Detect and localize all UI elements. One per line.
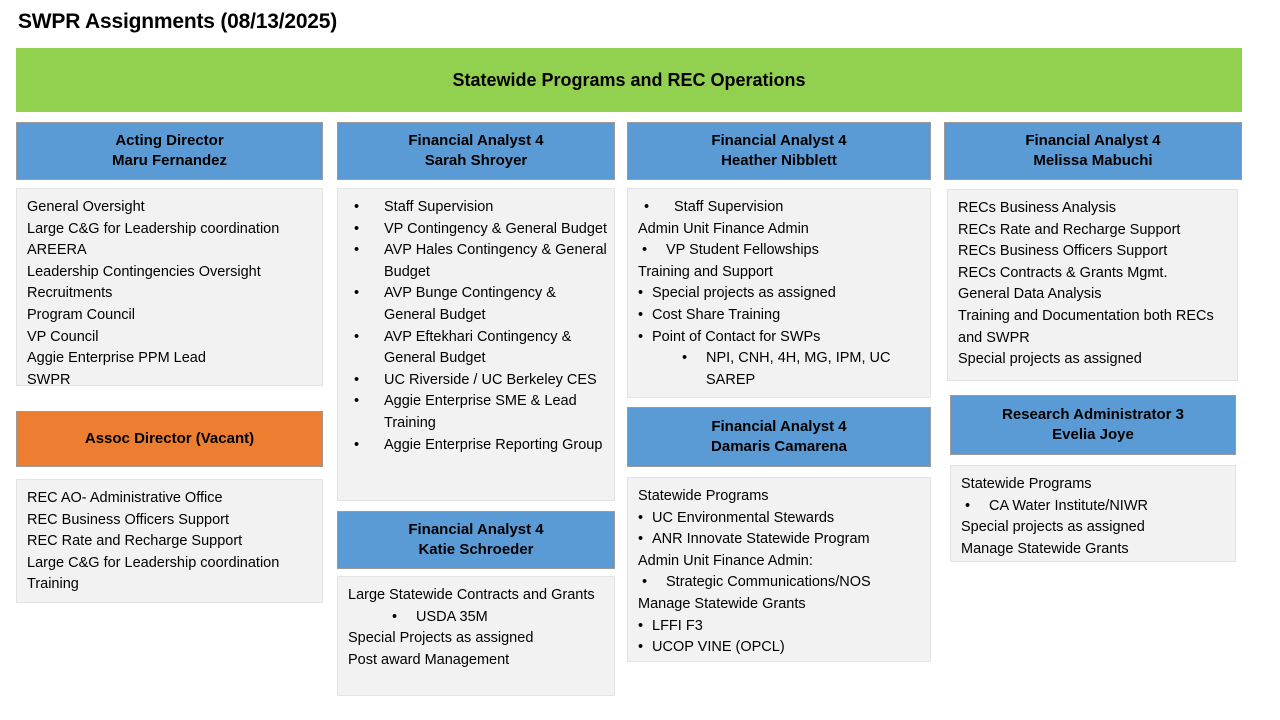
list-item: REC Business Officers Support: [27, 510, 316, 532]
list-item: RECs Rate and Recharge Support: [958, 220, 1231, 242]
role-title: Research Administrator 3: [1002, 405, 1184, 425]
list-item: UCOP VINE (OPCL): [638, 637, 924, 659]
list-item: SWPR: [27, 370, 316, 392]
role-person-name: Sarah Shroyer: [425, 151, 528, 171]
list-item: AREERA: [27, 240, 316, 262]
list-item: Aggie Enterprise PPM Lead: [27, 348, 316, 370]
org-column-3: Financial Analyst 4 Heather Nibblett Sta…: [627, 0, 931, 720]
role-title: Financial Analyst 4: [408, 131, 543, 151]
list-item: General Data Analysis: [958, 284, 1231, 306]
detail-card-assoc-director-vacant: REC AO- Administrative Office REC Busine…: [16, 479, 323, 603]
role-card-damaris-camarena[interactable]: Financial Analyst 4 Damaris Camarena: [627, 407, 931, 467]
detail-list: Large Statewide Contracts and Grants USD…: [348, 585, 608, 671]
list-item: NPI, CNH, 4H, MG, IPM, UC SAREP: [638, 348, 924, 391]
list-item: Admin Unit Finance Admin:: [638, 551, 924, 573]
role-card-maru-fernandez[interactable]: Acting Director Maru Fernandez: [16, 122, 323, 180]
org-column-2: Financial Analyst 4 Sarah Shroyer Staff …: [337, 0, 615, 720]
role-title: Financial Analyst 4: [711, 131, 846, 151]
list-item: Recruitments: [27, 283, 316, 305]
list-item: Post award Management: [348, 650, 608, 672]
list-item: Aggie Enterprise SME & Lead Training: [348, 391, 608, 434]
list-item: Point of Contact for SWPs: [638, 327, 924, 349]
role-card-assoc-director-vacant[interactable]: Assoc Director (Vacant): [16, 411, 323, 467]
role-person-name: Damaris Camarena: [711, 437, 847, 457]
list-item: AVP Eftekhari Contingency & General Budg…: [348, 327, 608, 370]
role-card-katie-schroeder[interactable]: Financial Analyst 4 Katie Schroeder: [337, 511, 615, 569]
list-item: General Oversight: [27, 197, 316, 219]
detail-list: RECs Business Analysis RECs Rate and Rec…: [958, 198, 1231, 371]
list-item: UC Riverside / UC Berkeley CES: [348, 370, 608, 392]
list-item: Aggie Enterprise Reporting Group: [348, 435, 608, 457]
list-item: Training and Documentation both RECs and…: [958, 306, 1231, 349]
detail-list: General Oversight Large C&G for Leadersh…: [27, 197, 316, 391]
detail-card-katie-schroeder: Large Statewide Contracts and Grants USD…: [337, 576, 615, 696]
list-item: Manage Statewide Grants: [961, 539, 1229, 561]
list-item: Large Statewide Contracts and Grants: [348, 585, 608, 607]
list-item: Staff Supervision: [348, 197, 608, 219]
role-person-name: Maru Fernandez: [112, 151, 227, 171]
list-item: Special projects as assigned: [961, 517, 1229, 539]
role-title: Financial Analyst 4: [408, 520, 543, 540]
role-title: Financial Analyst 4: [1025, 131, 1160, 151]
role-card-sarah-shroyer[interactable]: Financial Analyst 4 Sarah Shroyer: [337, 122, 615, 180]
role-person-name: Evelia Joye: [1052, 425, 1134, 445]
list-item: Special projects as assigned: [958, 349, 1231, 371]
org-column-4: Financial Analyst 4 Melissa Mabuchi RECs…: [944, 0, 1242, 720]
detail-list: Statewide Programs CA Water Institute/NI…: [961, 474, 1229, 560]
detail-list: Statewide Programs UC Environmental Stew…: [638, 486, 924, 659]
list-item: Staff Supervision: [638, 197, 924, 219]
role-card-melissa-mabuchi[interactable]: Financial Analyst 4 Melissa Mabuchi: [944, 122, 1242, 180]
list-item: RECs Contracts & Grants Mgmt.: [958, 263, 1231, 285]
list-item: REC AO- Administrative Office: [27, 488, 316, 510]
list-item: ANR Innovate Statewide Program: [638, 529, 924, 551]
list-item: Manage Statewide Grants: [638, 594, 924, 616]
role-card-evelia-joye[interactable]: Research Administrator 3 Evelia Joye: [950, 395, 1236, 455]
detail-card-melissa-mabuchi: RECs Business Analysis RECs Rate and Rec…: [947, 189, 1238, 381]
org-column-1: Acting Director Maru Fernandez General O…: [16, 0, 323, 720]
list-item: Training: [27, 574, 316, 596]
role-person-name: Melissa Mabuchi: [1033, 151, 1152, 171]
role-card-heather-nibblett[interactable]: Financial Analyst 4 Heather Nibblett: [627, 122, 931, 180]
list-item: Large C&G for Leadership coordination: [27, 219, 316, 241]
list-item: AVP Bunge Contingency & General Budget: [348, 283, 608, 326]
role-person-name: Heather Nibblett: [721, 151, 837, 171]
list-item: Large C&G for Leadership coordination: [27, 553, 316, 575]
list-item: Leadership Contingencies Oversight: [27, 262, 316, 284]
list-item: VP Student Fellowships: [638, 240, 924, 262]
list-item: Admin Unit Finance Admin: [638, 219, 924, 241]
list-item: Cost Share Training: [638, 305, 924, 327]
list-item: REC Rate and Recharge Support: [27, 531, 316, 553]
list-item: Statewide Programs: [961, 474, 1229, 496]
list-item: VP Council: [27, 327, 316, 349]
list-item: Special projects as assigned: [638, 283, 924, 305]
detail-card-heather-nibblett: Staff Supervision Admin Unit Finance Adm…: [627, 188, 931, 398]
role-title: Financial Analyst 4: [711, 417, 846, 437]
detail-list: REC AO- Administrative Office REC Busine…: [27, 488, 316, 596]
list-item: UC Environmental Stewards: [638, 508, 924, 530]
list-item: CA Water Institute/NIWR: [961, 496, 1229, 518]
list-item: RECs Business Officers Support: [958, 241, 1231, 263]
list-item: USDA 35M: [348, 607, 608, 629]
list-item: Special Projects as assigned: [348, 628, 608, 650]
org-chart-canvas: SWPR Assignments (08/13/2025) Statewide …: [0, 0, 1280, 720]
detail-card-maru-fernandez: General Oversight Large C&G for Leadersh…: [16, 188, 323, 386]
list-item: Training and Support: [638, 262, 924, 284]
list-item: Program Council: [27, 305, 316, 327]
detail-card-damaris-camarena: Statewide Programs UC Environmental Stew…: [627, 477, 931, 662]
list-item: RECs Business Analysis: [958, 198, 1231, 220]
detail-list: Staff Supervision VP Contingency & Gener…: [348, 197, 608, 456]
detail-card-evelia-joye: Statewide Programs CA Water Institute/NI…: [950, 465, 1236, 562]
detail-list: Staff Supervision Admin Unit Finance Adm…: [638, 197, 924, 391]
list-item: AVP Hales Contingency & General Budget: [348, 240, 608, 283]
list-item: Strategic Communications/NOS: [638, 572, 924, 594]
detail-card-sarah-shroyer: Staff Supervision VP Contingency & Gener…: [337, 188, 615, 501]
role-person-name: Katie Schroeder: [418, 540, 533, 560]
list-item: Statewide Programs: [638, 486, 924, 508]
role-title: Acting Director: [115, 131, 223, 151]
list-item: LFFI F3: [638, 616, 924, 638]
role-title: Assoc Director (Vacant): [85, 429, 254, 449]
list-item: VP Contingency & General Budget: [348, 219, 608, 241]
